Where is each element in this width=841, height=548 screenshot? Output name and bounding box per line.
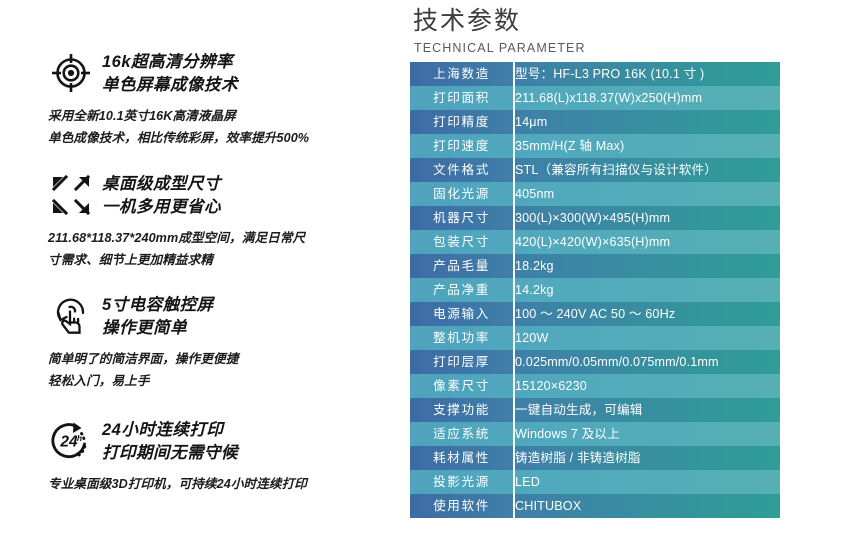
spec-key: 投影光源 bbox=[410, 470, 514, 494]
feature-title: 5寸电容触控屏 操作更简单 bbox=[102, 293, 214, 340]
spec-value: 300(L)×300(W)×495(H)mm bbox=[514, 206, 780, 230]
spec-value: 120W bbox=[514, 326, 780, 350]
feature-block-resolution: 16k超高清分辨率 单色屏幕成像技术 采用全新10.1英寸16K高清液晶屏 单色… bbox=[48, 50, 388, 149]
touch-hand-icon bbox=[48, 293, 94, 339]
feature-header: 16k超高清分辨率 单色屏幕成像技术 bbox=[48, 50, 388, 97]
spec-key: 打印精度 bbox=[410, 110, 514, 134]
spec-key: 上海数造 bbox=[410, 62, 514, 86]
spec-key: 包装尺寸 bbox=[410, 230, 514, 254]
table-row: 投影光源LED bbox=[410, 470, 780, 494]
spec-key: 电源输入 bbox=[410, 302, 514, 326]
spec-key: 机器尺寸 bbox=[410, 206, 514, 230]
spec-heading-chinese: 技术参数 bbox=[413, 5, 521, 37]
feature-title: 16k超高清分辨率 单色屏幕成像技术 bbox=[102, 50, 238, 97]
spec-value: 15120×6230 bbox=[514, 374, 780, 398]
technical-parameter-panel: 技术参数 TECHNICAL PARAMETER 上海数造型号：HF-L3 PR… bbox=[410, 0, 841, 548]
table-row: 固化光源405nm bbox=[410, 182, 780, 206]
table-row: 打印层厚0.025mm/0.05mm/0.075mm/0.1mm bbox=[410, 350, 780, 374]
specification-table: 上海数造型号：HF-L3 PRO 16K (10.1 寸 )打印面积211.68… bbox=[410, 62, 780, 518]
table-row: 整机功率120W bbox=[410, 326, 780, 350]
spec-key: 产品毛量 bbox=[410, 254, 514, 278]
24h-clock-icon: 24 h bbox=[48, 418, 94, 464]
spec-value: 420(L)×420(W)×635(H)mm bbox=[514, 230, 780, 254]
svg-text:24: 24 bbox=[59, 434, 78, 451]
feature-description: 211.68*118.37*240mm成型空间，满足日常尺 寸需求、细节上更加精… bbox=[48, 227, 388, 271]
feature-block-24h-printing: 24 h 24小时连续打印 打印期间无需守候 专业桌面级3D打印机，可持续24小… bbox=[48, 418, 388, 495]
feature-title: 桌面级成型尺寸 一机多用更省心 bbox=[102, 172, 221, 219]
feature-header: 5寸电容触控屏 操作更简单 bbox=[48, 293, 388, 340]
table-row: 支撑功能一键自动生成，可编辑 bbox=[410, 398, 780, 422]
spec-key: 打印面积 bbox=[410, 86, 514, 110]
feature-description: 简单明了的简洁界面，操作更便捷 轻松入门，易上手 bbox=[48, 348, 388, 392]
feature-block-touchscreen: 5寸电容触控屏 操作更简单 简单明了的简洁界面，操作更便捷 轻松入门，易上手 bbox=[48, 293, 388, 392]
expand-arrows-icon bbox=[48, 172, 94, 218]
table-row: 打印速度35mm/H(Z 轴 Max) bbox=[410, 134, 780, 158]
spec-value: 0.025mm/0.05mm/0.075mm/0.1mm bbox=[514, 350, 780, 374]
spec-value: 一键自动生成，可编辑 bbox=[514, 398, 780, 422]
spec-value: 型号：HF-L3 PRO 16K (10.1 寸 ) bbox=[514, 62, 780, 86]
spec-key: 适应系统 bbox=[410, 422, 514, 446]
spec-value: 铸造树脂 / 非铸造树脂 bbox=[514, 446, 780, 470]
spec-key: 支撑功能 bbox=[410, 398, 514, 422]
spec-key: 产品净重 bbox=[410, 278, 514, 302]
spec-value: 14.2kg bbox=[514, 278, 780, 302]
specification-table-body: 上海数造型号：HF-L3 PRO 16K (10.1 寸 )打印面积211.68… bbox=[410, 62, 780, 518]
spec-value: 100 ～ 240V AC 50 ～ 60Hz bbox=[514, 302, 780, 326]
spec-value: 14μm bbox=[514, 110, 780, 134]
svg-text:h: h bbox=[77, 433, 82, 443]
table-row: 耗材属性铸造树脂 / 非铸造树脂 bbox=[410, 446, 780, 470]
spec-value: Windows 7 及以上 bbox=[514, 422, 780, 446]
spec-value: STL（兼容所有扫描仪与设计软件） bbox=[514, 158, 780, 182]
spec-key: 整机功率 bbox=[410, 326, 514, 350]
feature-block-build-size: 桌面级成型尺寸 一机多用更省心 211.68*118.37*240mm成型空间，… bbox=[48, 172, 388, 271]
spec-value: 211.68(L)x118.37(W)x250(H)mm bbox=[514, 86, 780, 110]
spec-value: LED bbox=[514, 470, 780, 494]
spec-key: 文件格式 bbox=[410, 158, 514, 182]
spec-heading-english: TECHNICAL PARAMETER bbox=[414, 40, 586, 56]
table-row: 打印精度14μm bbox=[410, 110, 780, 134]
feature-title: 24小时连续打印 打印期间无需守候 bbox=[102, 418, 238, 465]
feature-header: 桌面级成型尺寸 一机多用更省心 bbox=[48, 172, 388, 219]
table-row: 使用软件CHITUBOX bbox=[410, 494, 780, 518]
feature-description: 采用全新10.1英寸16K高清液晶屏 单色成像技术，相比传统彩屏，效率提升500… bbox=[48, 105, 388, 149]
spec-value: 18.2kg bbox=[514, 254, 780, 278]
spec-value: 35mm/H(Z 轴 Max) bbox=[514, 134, 780, 158]
table-row: 包装尺寸420(L)×420(W)×635(H)mm bbox=[410, 230, 780, 254]
crosshair-target-icon bbox=[48, 50, 94, 96]
spec-key: 耗材属性 bbox=[410, 446, 514, 470]
spec-key: 固化光源 bbox=[410, 182, 514, 206]
spec-key: 打印层厚 bbox=[410, 350, 514, 374]
table-row: 电源输入100 ～ 240V AC 50 ～ 60Hz bbox=[410, 302, 780, 326]
table-row: 上海数造型号：HF-L3 PRO 16K (10.1 寸 ) bbox=[410, 62, 780, 86]
feature-list: 16k超高清分辨率 单色屏幕成像技术 采用全新10.1英寸16K高清液晶屏 单色… bbox=[0, 0, 400, 548]
table-row: 像素尺寸15120×6230 bbox=[410, 374, 780, 398]
feature-description: 专业桌面级3D打印机，可持续24小时连续打印 bbox=[48, 473, 388, 495]
table-row: 机器尺寸300(L)×300(W)×495(H)mm bbox=[410, 206, 780, 230]
table-row: 产品净重14.2kg bbox=[410, 278, 780, 302]
feature-header: 24 h 24小时连续打印 打印期间无需守候 bbox=[48, 418, 388, 465]
table-row: 适应系统Windows 7 及以上 bbox=[410, 422, 780, 446]
spec-key: 使用软件 bbox=[410, 494, 514, 518]
spec-value: 405nm bbox=[514, 182, 780, 206]
spec-value: CHITUBOX bbox=[514, 494, 780, 518]
table-row: 产品毛量18.2kg bbox=[410, 254, 780, 278]
table-row: 文件格式STL（兼容所有扫描仪与设计软件） bbox=[410, 158, 780, 182]
table-row: 打印面积211.68(L)x118.37(W)x250(H)mm bbox=[410, 86, 780, 110]
spec-key: 打印速度 bbox=[410, 134, 514, 158]
spec-key: 像素尺寸 bbox=[410, 374, 514, 398]
